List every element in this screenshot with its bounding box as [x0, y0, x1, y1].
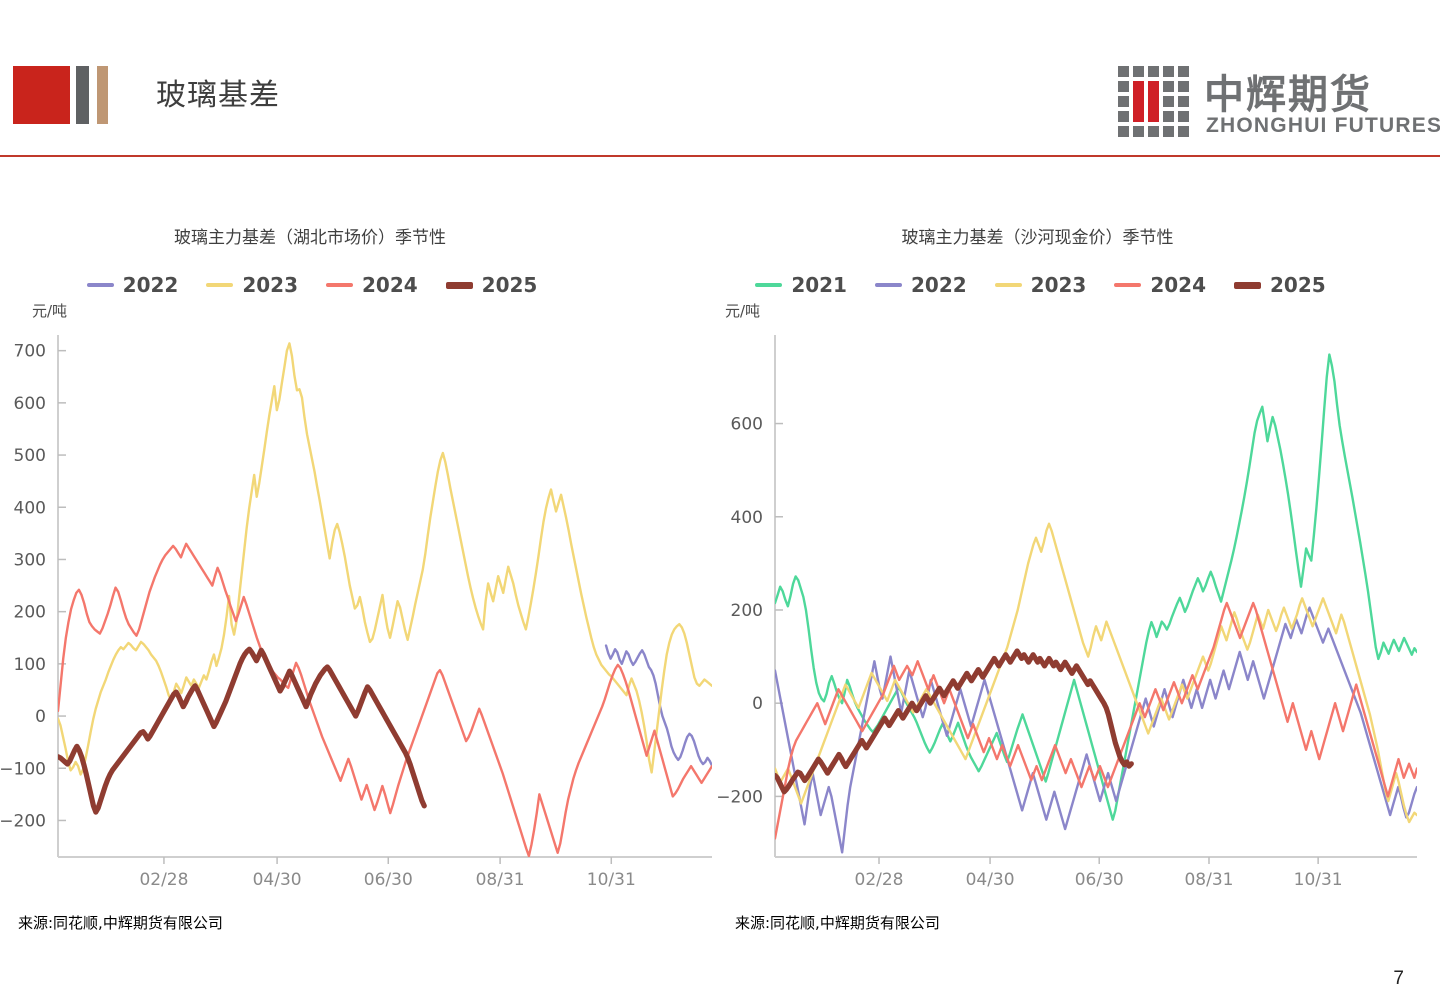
legend-swatch-2022: [87, 283, 114, 287]
y-tick-label: 100: [14, 655, 46, 675]
y-tick-label: 0: [752, 694, 763, 714]
page-header: 玻璃基差 中辉期货 ZHONGHUI FUTURES: [0, 0, 1440, 160]
legend-label-2021: 2021: [791, 273, 847, 297]
legend-label-2023: 2023: [242, 273, 298, 297]
y-axis-unit-hubei: 元/吨: [32, 300, 67, 321]
page-number: 7: [1393, 968, 1404, 990]
y-tick-label: 200: [14, 603, 46, 623]
company-logo: 中辉期货 ZHONGHUI FUTURES: [1100, 60, 1388, 145]
logo-grid-cell: [1148, 126, 1159, 137]
legend-item-2024[interactable]: 2024: [326, 273, 418, 297]
x-tick-label: 10/31: [587, 870, 636, 890]
legend-label-2024: 2024: [362, 273, 418, 297]
chart-title-shahe: 玻璃主力基差（沙河现金价）季节性: [670, 223, 1405, 248]
legend-label-2024: 2024: [1150, 273, 1206, 297]
legend-swatch-2025: [446, 282, 473, 289]
legend-swatch-2025: [1234, 282, 1261, 289]
y-tick-label: 200: [731, 601, 763, 621]
y-tick-label: 600: [731, 415, 763, 435]
logo-grid-cell: [1163, 96, 1174, 107]
legend-item-2023[interactable]: 2023: [206, 273, 298, 297]
logo-grid-cell: [1178, 126, 1189, 137]
series-line-2025: [58, 649, 424, 812]
legend-item-2024[interactable]: 2024: [1114, 273, 1206, 297]
legend-swatch-2024: [326, 283, 353, 287]
logo-grid-cell: [1178, 96, 1189, 107]
legend-label-2025: 2025: [1270, 273, 1326, 297]
x-tick-label: 06/30: [364, 870, 413, 890]
header-accent-tan: [97, 66, 108, 124]
y-tick-label: −200: [716, 787, 763, 807]
y-tick-label: 500: [14, 446, 46, 466]
legend-item-2023[interactable]: 2023: [995, 273, 1087, 297]
logo-grid-cell: [1118, 126, 1129, 137]
y-tick-label: −200: [0, 811, 46, 831]
series-line-2023: [58, 343, 712, 774]
logo-grid-cell: [1178, 66, 1189, 77]
logo-grid-icon: [1118, 66, 1192, 140]
x-tick-label: 06/30: [1075, 870, 1124, 890]
plot-area-shahe: 6004002000−20002/2804/3006/3008/3110/31: [705, 325, 1425, 905]
x-tick-label: 02/28: [855, 870, 904, 890]
legend-label-2023: 2023: [1031, 273, 1087, 297]
legend-label-2022: 2022: [123, 273, 179, 297]
chart-title-hubei: 玻璃主力基差（湖北市场价）季节性: [0, 223, 670, 248]
logo-grid-cell: [1163, 81, 1174, 92]
logo-grid-cell: [1118, 96, 1129, 107]
header-accent-gray: [76, 66, 89, 124]
legend-swatch-2024: [1114, 283, 1141, 287]
legend-swatch-2022: [875, 283, 902, 287]
logo-grid-cell: [1148, 66, 1159, 77]
legend-label-2022: 2022: [911, 273, 967, 297]
y-tick-label: 600: [14, 394, 46, 414]
y-tick-label: 0: [35, 707, 46, 727]
logo-red-bar: [1133, 81, 1144, 122]
y-tick-label: −100: [0, 759, 46, 779]
legend-item-2022[interactable]: 2022: [875, 273, 967, 297]
y-axis-unit-shahe: 元/吨: [725, 300, 760, 321]
legend-swatch-2023: [995, 283, 1022, 287]
legend-item-2021[interactable]: 2021: [755, 273, 847, 297]
logo-chinese-name: 中辉期货: [1204, 62, 1372, 120]
x-tick-label: 08/31: [476, 870, 525, 890]
x-tick-label: 08/31: [1184, 870, 1233, 890]
logo-grid-cell: [1133, 66, 1144, 77]
x-tick-label: 10/31: [1294, 870, 1343, 890]
logo-english-name: ZHONGHUI FUTURES: [1206, 114, 1440, 138]
logo-grid-cell: [1178, 81, 1189, 92]
logo-grid-cell: [1163, 126, 1174, 137]
logo-grid-cell: [1118, 66, 1129, 77]
chart-panel-shahe: 玻璃主力基差（沙河现金价）季节性 20212022202320242025 元/…: [705, 175, 1440, 965]
header-accent-red: [13, 66, 70, 124]
y-tick-label: 300: [14, 550, 46, 570]
chart-legend-shahe: 20212022202320242025: [673, 273, 1408, 297]
x-tick-label: 04/30: [966, 870, 1015, 890]
header-divider: [0, 155, 1440, 157]
logo-grid-cell: [1118, 111, 1129, 122]
legend-label-2025: 2025: [482, 273, 538, 297]
plot-area-hubei: 7006005004003002001000−100−20002/2804/30…: [0, 325, 720, 905]
series-line-2025: [775, 651, 1131, 792]
legend-swatch-2021: [755, 283, 782, 287]
logo-red-bar: [1148, 81, 1159, 122]
source-note-hubei: 来源:同花顺,中辉期货有限公司: [18, 912, 223, 933]
logo-grid-cell: [1178, 111, 1189, 122]
logo-grid-cell: [1118, 81, 1129, 92]
x-tick-label: 04/30: [253, 870, 302, 890]
logo-grid-cell: [1163, 111, 1174, 122]
legend-item-2025[interactable]: 2025: [1234, 273, 1326, 297]
legend-swatch-2023: [206, 283, 233, 287]
y-tick-label: 400: [14, 498, 46, 518]
logo-grid-cell: [1163, 66, 1174, 77]
series-line-2024: [58, 544, 712, 856]
chart-legend-hubei: 2022202320242025: [0, 273, 672, 297]
y-tick-label: 700: [14, 342, 46, 362]
chart-panel-hubei: 玻璃主力基差（湖北市场价）季节性 2022202320242025 元/吨 70…: [0, 175, 720, 965]
legend-item-2022[interactable]: 2022: [87, 273, 179, 297]
x-tick-label: 02/28: [139, 870, 188, 890]
legend-item-2025[interactable]: 2025: [446, 273, 538, 297]
page-title: 玻璃基差: [156, 70, 280, 114]
y-tick-label: 400: [731, 508, 763, 528]
source-note-shahe: 来源:同花顺,中辉期货有限公司: [735, 912, 940, 933]
logo-grid-cell: [1133, 126, 1144, 137]
